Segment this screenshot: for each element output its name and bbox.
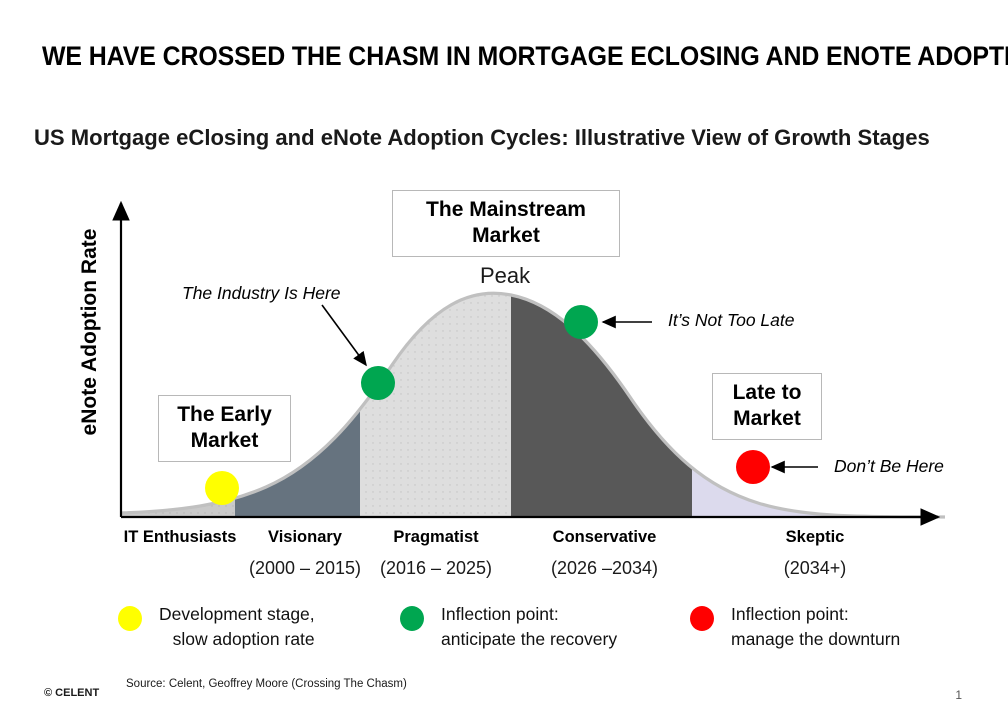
callout-the-mainstream-market: The Mainstream Market bbox=[392, 190, 620, 257]
category-name: Conservative bbox=[523, 527, 686, 548]
annotation-its-not-too-late: It’s Not Too Late bbox=[668, 310, 794, 331]
callout-line-1: Late to bbox=[733, 381, 802, 404]
callout-line-2: Market bbox=[472, 224, 540, 247]
legend-item-label: Inflection point: anticipate the recover… bbox=[441, 602, 617, 652]
legend-line-1: Inflection point: bbox=[441, 604, 559, 624]
green-marker-early bbox=[361, 366, 395, 400]
legend-line-2: slow adoption rate bbox=[159, 627, 315, 652]
legend-item-label: Inflection point: manage the downturn bbox=[731, 602, 900, 652]
green-dot-icon bbox=[400, 606, 424, 631]
legend-line-2: anticipate the recovery bbox=[441, 627, 617, 652]
peak-label: Peak bbox=[480, 263, 530, 289]
legend-item-development-stage: Development stage, slow adoption rate bbox=[118, 602, 400, 652]
annotation-dont-be-here: Don’t Be Here bbox=[834, 456, 944, 477]
legend-line-2: manage the downturn bbox=[731, 627, 900, 652]
legend-line-1: Inflection point: bbox=[731, 604, 849, 624]
x-axis-category-pragmatist: Pragmatist (2016 – 2025) bbox=[362, 527, 510, 582]
category-name: Visionary bbox=[233, 527, 377, 548]
callout-the-early-market: The Early Market bbox=[158, 395, 291, 462]
page-number: 1 bbox=[955, 688, 962, 702]
yellow-marker bbox=[205, 471, 239, 505]
x-axis-category-skeptic: Skeptic (2034+) bbox=[740, 527, 890, 582]
legend-item-manage-downturn: Inflection point: manage the downturn bbox=[690, 602, 970, 652]
callout-line-2: Market bbox=[191, 429, 259, 452]
legend-item-anticipate-recovery: Inflection point: anticipate the recover… bbox=[400, 602, 690, 652]
x-axis-category-visionary: Visionary (2000 – 2015) bbox=[233, 527, 377, 582]
page-title: WE HAVE CROSSED THE CHASM IN MORTGAGE EC… bbox=[42, 42, 916, 71]
green-marker-late bbox=[564, 305, 598, 339]
slide-canvas: WE HAVE CROSSED THE CHASM IN MORTGAGE EC… bbox=[0, 0, 1008, 720]
chart-legend: Development stage, slow adoption rate In… bbox=[118, 602, 978, 652]
industry-here-arrow bbox=[322, 305, 366, 365]
callout-line-1: The Mainstream bbox=[426, 198, 586, 221]
yellow-dot-icon bbox=[118, 606, 142, 631]
callout-line-1: The Early bbox=[177, 403, 272, 426]
callout-late-to-market: Late to Market bbox=[712, 373, 822, 440]
legend-item-label: Development stage, slow adoption rate bbox=[159, 602, 315, 652]
category-name: Skeptic bbox=[740, 527, 890, 548]
page-subtitle: US Mortgage eClosing and eNote Adoption … bbox=[34, 125, 970, 151]
x-axis-category-conservative: Conservative (2026 –2034) bbox=[523, 527, 686, 582]
category-name: Pragmatist bbox=[362, 527, 510, 548]
red-marker bbox=[736, 450, 770, 484]
category-years: (2026 –2034) bbox=[523, 555, 686, 581]
category-years: (2016 – 2025) bbox=[362, 555, 510, 581]
footer-source: Source: Celent, Geoffrey Moore (Crossing… bbox=[126, 678, 407, 690]
callout-line-2: Market bbox=[733, 407, 801, 430]
category-years: (2034+) bbox=[740, 555, 890, 581]
legend-line-1: Development stage, bbox=[159, 604, 315, 624]
annotation-the-industry-is-here: The Industry Is Here bbox=[182, 283, 341, 304]
footer-copyright: © CELENT bbox=[44, 687, 99, 699]
category-years: (2000 – 2015) bbox=[233, 555, 377, 581]
red-dot-icon bbox=[690, 606, 714, 631]
